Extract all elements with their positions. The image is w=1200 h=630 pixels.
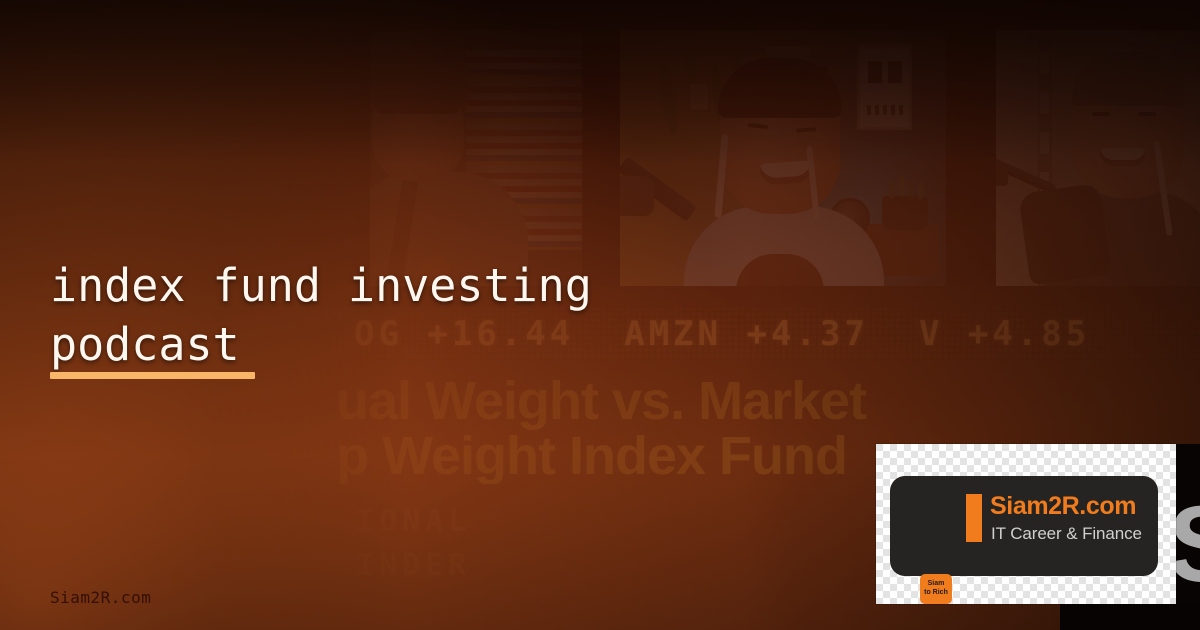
site-watermark: Siam2R.com [50, 588, 151, 607]
thumbnail-man-with-microphone-gray-hair [996, 30, 1200, 286]
thumbnail-man-with-earbuds-in-podcast-studio [620, 30, 946, 286]
logo-tagline: IT Career & Finance [991, 524, 1142, 544]
logo-card[interactable]: Siam2R.com IT Career & Finance Siam to R… [876, 444, 1176, 604]
background-video-title-line-1: ual Weight vs. Market [336, 374, 866, 431]
person-eye-right [1138, 112, 1156, 116]
bottom-right-black-strip [1060, 604, 1200, 630]
logo-brand-name: Siam2R.com [990, 492, 1136, 521]
thumbnail-man-in-front-of-bookshelf [370, 30, 582, 286]
title-underline-accent [50, 372, 255, 379]
page-title-line-1: index fund investing [50, 259, 592, 312]
page-title-line-2: podcast [50, 315, 750, 374]
microphone [1018, 183, 1112, 286]
mic-boom-head [620, 176, 654, 216]
logo-card-inner: Siam2R.com IT Career & Finance Siam to R… [890, 476, 1158, 576]
small-wall-art [688, 82, 710, 112]
background-led-subtext-line-1: IONAL [356, 500, 471, 544]
potted-plant [882, 196, 928, 230]
page-title: index fund investing podcast [50, 256, 750, 375]
person-hair [374, 70, 462, 114]
background-led-subtext: IONAL INDER [356, 500, 471, 587]
ticker-item-2: V +4.85 [919, 314, 1090, 354]
logo-siam-to-rich-badge: Siam to Rich [920, 574, 952, 604]
poster-canvas: OG +16.44 AMZN +4.37 V +4.85 ual Weight … [0, 0, 1200, 630]
person-eye-left [1092, 112, 1110, 116]
mic-boom-head [996, 164, 1008, 186]
logo-accent-bar-icon [966, 494, 982, 542]
framed-wall-art [857, 44, 912, 130]
logo-badge-line-1: Siam [928, 580, 945, 589]
logo-badge-line-2: to Rich [924, 589, 948, 598]
background-led-subtext-line-2: INDER [356, 544, 471, 588]
person-smile [1100, 148, 1146, 166]
